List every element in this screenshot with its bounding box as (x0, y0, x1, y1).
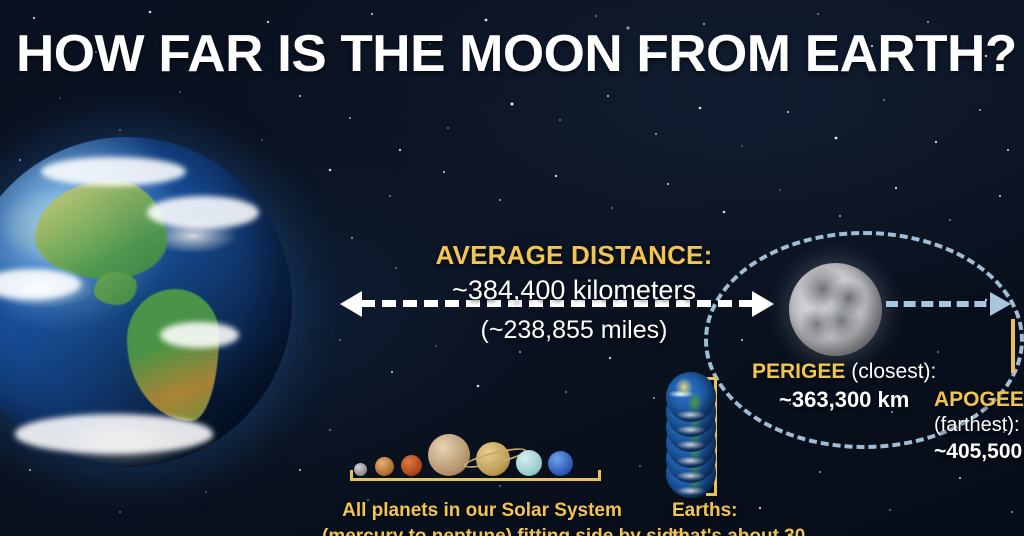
average-distance-block: AVERAGE DISTANCE: ~384,400 kilometers (~… (424, 240, 724, 345)
perigee-qualifier: (closest): (845, 360, 936, 383)
north-america-landmass (35, 180, 167, 279)
earths-caption-line1: Earths: (672, 500, 805, 522)
cloud-band (15, 414, 213, 454)
perigee-heading: PERIGEE (closest): (752, 360, 936, 384)
perigee-block: PERIGEE (closest): ~363,300 km (752, 360, 936, 413)
cloud-band (160, 322, 239, 348)
average-distance-miles: (~238,855 miles) (424, 316, 724, 345)
distance-arrow-right (752, 291, 774, 317)
average-distance-label: AVERAGE DISTANCE: (424, 240, 724, 271)
perigee-value: ~363,300 km (752, 387, 936, 413)
south-america-landmass (127, 289, 219, 421)
planets-caption-line2: (mercury to neptune) fitting side by sid… (322, 526, 642, 536)
apogee-marker-tick (1011, 319, 1015, 373)
central-america-landmass (94, 272, 137, 305)
distance-arrow-left (340, 291, 362, 317)
earth-globe (0, 137, 292, 467)
cloud-band (147, 196, 259, 229)
earth-stack (666, 372, 716, 498)
apogee-block: APOGEE (farthest): ~405,500 km (934, 388, 1024, 464)
earths-caption: Earths: that's about 30 (672, 500, 805, 536)
cloud-band (41, 157, 186, 187)
planets-caption-line1: All planets in our Solar System (322, 500, 642, 522)
page-title: HOW FAR IS THE MOON FROM EARTH? (16, 26, 1024, 82)
earths-caption-line2: that's about 30 (672, 526, 805, 536)
average-distance-km: ~384,400 kilometers (424, 275, 724, 306)
planets-bracket (350, 470, 601, 481)
apogee-qualifier: (farthest): (934, 414, 1024, 437)
stacked-earth (666, 372, 716, 422)
infographic-canvas: HOW FAR IS THE MOON FROM EARTH? AVERAGE … (0, 0, 1024, 536)
apogee-dashed-line (886, 301, 1004, 307)
moon-globe (789, 263, 882, 356)
cloud-band (0, 269, 81, 299)
apogee-label: APOGEE (934, 388, 1024, 412)
apogee-arrow-right (990, 292, 1011, 316)
perigee-label: PERIGEE (752, 360, 845, 383)
apogee-value: ~405,500 km (934, 440, 1024, 464)
planets-caption: All planets in our Solar System (mercury… (322, 500, 642, 536)
